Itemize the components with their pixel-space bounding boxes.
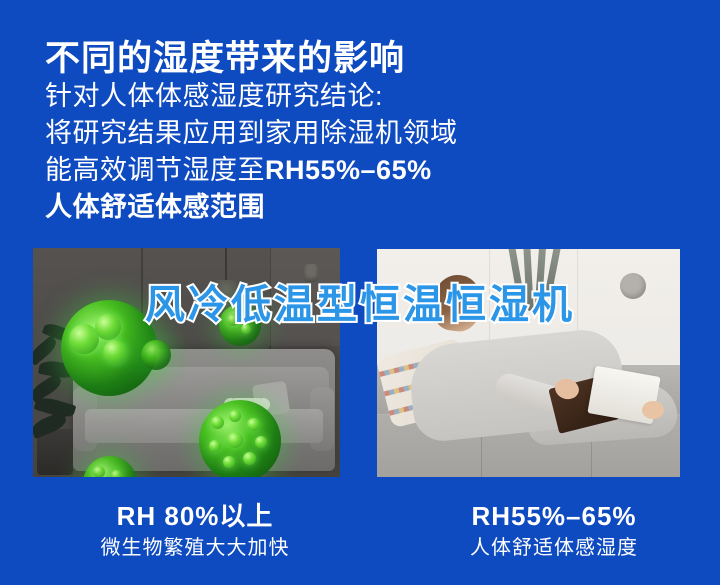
microbe-bud xyxy=(227,432,243,448)
left-photo-lamp-cord xyxy=(225,248,227,284)
microbe-bud xyxy=(255,436,267,448)
caption-right-title: RH55%–65% xyxy=(404,500,704,532)
photo-right-comfort-humidity xyxy=(377,249,680,477)
caption-left: RH 80%以上 微生物繁殖大大加快 xyxy=(45,500,345,561)
caption-right: RH55%–65% 人体舒适体感湿度 xyxy=(404,500,704,561)
microbe-bud xyxy=(95,314,121,340)
caption-left-subtitle: 微生物繁殖大大加快 xyxy=(45,535,345,561)
body-line-4: 人体舒适体感范围 xyxy=(45,189,458,226)
body-line-1: 针对人体体感湿度研究结论: xyxy=(45,78,458,115)
microbe-bud xyxy=(243,452,256,465)
body-line-3: 能高效调节湿度至RH55%–65% xyxy=(45,152,458,189)
body-line-3-prefix: 能高效调节湿度至 xyxy=(45,155,265,185)
body-line-3-emphasis: RH55%–65% xyxy=(265,155,432,185)
caption-right-subtitle: 人体舒适体感湿度 xyxy=(404,535,704,561)
microbe-sphere xyxy=(141,340,171,370)
microbe-sphere xyxy=(199,400,281,477)
right-photo-wall-clock xyxy=(620,273,646,299)
microbe-bud xyxy=(247,418,260,431)
microbe-bud xyxy=(93,466,105,477)
left-photo-wall-panel xyxy=(269,248,340,346)
microbe-bud xyxy=(211,416,224,429)
microbe-bud xyxy=(209,440,221,452)
body-line-2: 将研究结果应用到家用除湿机领域 xyxy=(45,115,458,152)
microbe-bud xyxy=(241,324,251,334)
microbe-sphere xyxy=(219,304,261,346)
page-title: 不同的湿度带来的影响 xyxy=(45,37,405,81)
microbe-bud xyxy=(227,314,239,326)
plant-frond xyxy=(523,249,533,311)
poster-root: 不同的湿度带来的影响 针对人体体感湿度研究结论: 将研究结果应用到家用除湿机领域… xyxy=(0,0,720,585)
plant-frond xyxy=(535,249,546,307)
left-photo-wall-knob xyxy=(304,264,318,282)
microbe-bud xyxy=(103,340,127,364)
photo-left-high-humidity xyxy=(33,248,340,477)
right-photo-hanging-plant xyxy=(509,249,563,313)
microbe-bud xyxy=(223,456,235,468)
caption-left-title: RH 80%以上 xyxy=(45,500,345,532)
body-copy: 针对人体体感湿度研究结论: 将研究结果应用到家用除湿机领域 能高效调节湿度至RH… xyxy=(45,78,458,226)
microbe-bud xyxy=(229,410,241,422)
plant-frond xyxy=(544,249,561,299)
microbe-bud xyxy=(111,470,122,477)
plant-frond xyxy=(508,249,525,303)
right-photo-person-foot xyxy=(642,401,664,419)
